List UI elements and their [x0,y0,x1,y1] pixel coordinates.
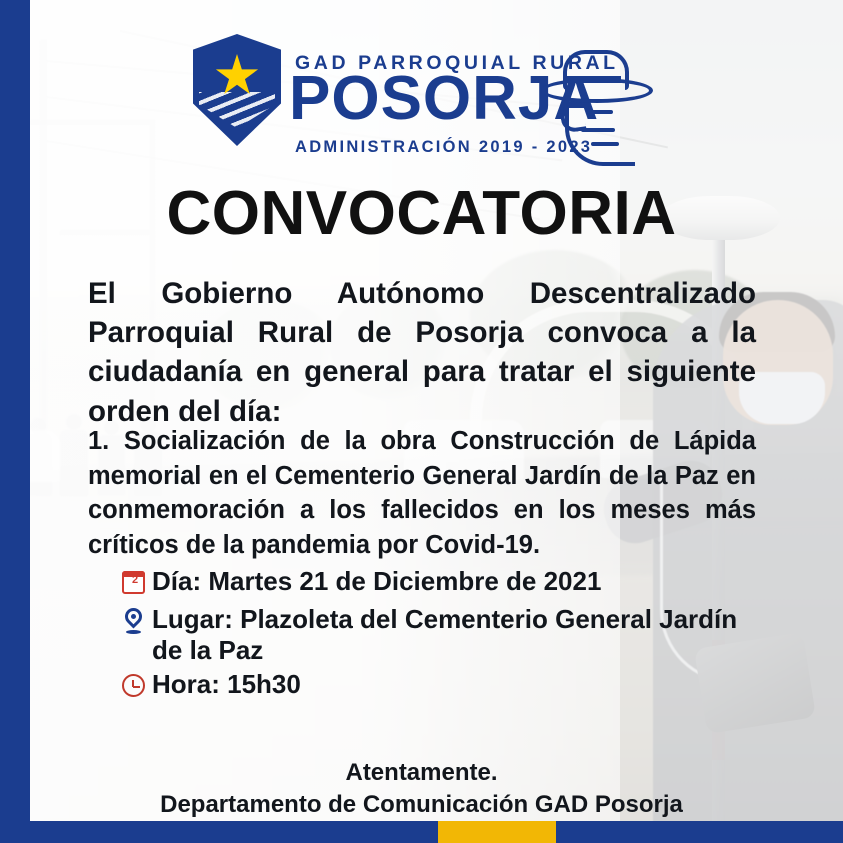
detail-row-place: Lugar: Plazoleta del Cementerio General … [118,604,738,665]
poster-content: GAD PARROQUIAL RURAL POSORJA ADMINISTRAC… [0,0,843,843]
clock-icon [118,671,152,703]
page-title: CONVOCATORIA [0,178,843,249]
agenda-item-paragraph: 1. Socialización de la obra Construcción… [88,424,756,563]
poster-canvas: CONSULADO [0,0,843,843]
pin-dot [131,614,136,619]
footer-line-2: Departamento de Comunicación GAD Posorja [0,789,843,821]
event-details-list: 2 Día: Martes 21 de Diciembre de 2021 Lu… [118,566,738,707]
detail-text-date: Día: Martes 21 de Diciembre de 2021 [152,566,738,597]
shield-shape [193,34,281,146]
face-detail-line [591,142,619,146]
pin-base [126,630,141,634]
footer-line-1: Atentamente. [0,757,843,789]
detail-row-date: 2 Día: Martes 21 de Diciembre de 2021 [118,566,738,600]
face-detail-line [581,128,615,132]
footer-signature: Atentamente. Departamento de Comunicació… [0,757,843,821]
intro-paragraph: El Gobierno Autónomo Descentralizado Par… [88,274,756,431]
clock-face [122,674,145,697]
location-pin-icon [118,606,152,638]
detail-row-time: Hora: 15h30 [118,669,738,703]
detail-text-time: Hora: 15h30 [152,669,738,700]
calendar-icon: 2 [118,568,152,600]
shield-with-star-icon [193,34,281,146]
gad-posorja-logo: GAD PARROQUIAL RURAL POSORJA ADMINISTRAC… [185,26,655,166]
face-detail-line [587,110,613,114]
hat-band [563,76,621,83]
man-with-hat-icon [535,36,660,166]
detail-text-place: Lugar: Plazoleta del Cementerio General … [152,604,738,665]
calendar-day-number: 2 [118,574,152,586]
